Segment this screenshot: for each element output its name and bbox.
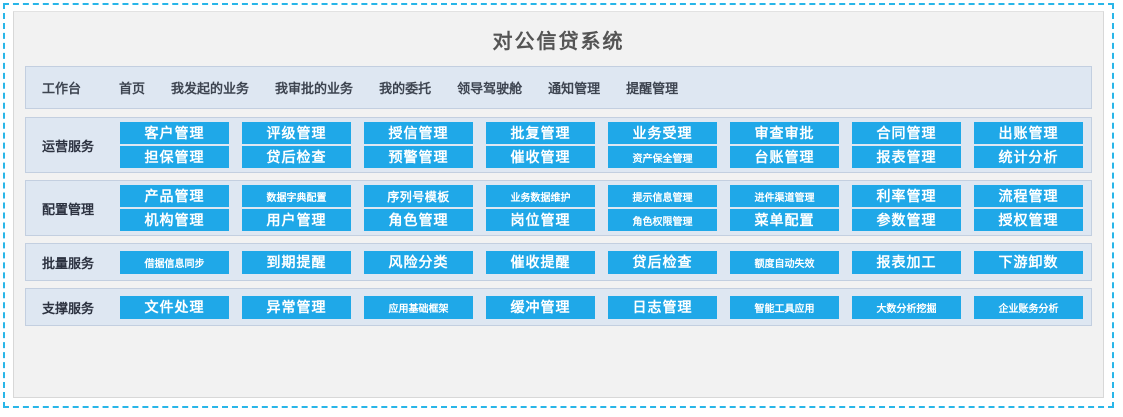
menu-button-0-1-7[interactable]: 统计分析 [974,146,1083,168]
menu-button-1-0-7[interactable]: 流程管理 [974,185,1083,207]
section-panel-1: 配置管理产品管理数据字典配置序列号模板业务数据维护提示信息管理进件渠道管理利率管… [25,180,1092,236]
sections-container: 运营服务客户管理评级管理授信管理批复管理业务受理审查审批合同管理出账管理担保管理… [14,117,1103,326]
page-surface: 对公信贷系统 工作台首页我发起的业务我审批的业务我的委托领导驾驶舱通知管理提醒管… [13,11,1104,398]
menu-button-0-1-5[interactable]: 台账管理 [730,146,839,168]
menu-button-1-1-7[interactable]: 授权管理 [974,209,1083,231]
menu-button-3-0-5[interactable]: 智能工具应用 [730,296,839,319]
section-panel-3: 支撑服务文件处理异常管理应用基础框架缓冲管理日志管理智能工具应用大数分析挖掘企业… [25,288,1092,326]
section-label-3: 支撑服务 [34,298,120,317]
menu-button-0-1-3[interactable]: 催收管理 [486,146,595,168]
section-label-0: 运营服务 [34,136,120,155]
nav-item-5[interactable]: 领导驾驶舱 [457,78,522,97]
menu-button-0-1-6[interactable]: 报表管理 [852,146,961,168]
top-navigation-bar: 工作台首页我发起的业务我审批的业务我的委托领导驾驶舱通知管理提醒管理 [25,66,1092,109]
section-label-2: 批量服务 [34,253,120,272]
menu-button-0-1-4[interactable]: 资产保全管理 [608,146,717,168]
section-label-1: 配置管理 [34,199,120,218]
menu-button-3-0-2[interactable]: 应用基础框架 [364,296,473,319]
menu-button-0-1-2[interactable]: 预警管理 [364,146,473,168]
menu-button-2-0-2[interactable]: 风险分类 [364,251,473,274]
menu-button-2-0-4[interactable]: 贷后检查 [608,251,717,274]
menu-button-2-0-5[interactable]: 额度自动失效 [730,251,839,274]
menu-button-2-0-6[interactable]: 报表加工 [852,251,961,274]
menu-button-3-0-6[interactable]: 大数分析挖掘 [852,296,961,319]
menu-button-3-0-1[interactable]: 异常管理 [242,296,351,319]
menu-button-1-0-5[interactable]: 进件渠道管理 [730,185,839,207]
menu-button-0-1-1[interactable]: 贷后检查 [242,146,351,168]
nav-item-6[interactable]: 通知管理 [548,78,600,97]
menu-button-2-0-7[interactable]: 下游卸数 [974,251,1083,274]
menu-button-2-0-1[interactable]: 到期提醒 [242,251,351,274]
menu-button-0-0-4[interactable]: 业务受理 [608,122,717,144]
section-button-grid-3: 文件处理异常管理应用基础框架缓冲管理日志管理智能工具应用大数分析挖掘企业账务分析 [120,296,1085,319]
section-button-grid-1: 产品管理数据字典配置序列号模板业务数据维护提示信息管理进件渠道管理利率管理流程管… [120,185,1085,231]
menu-button-2-0-3[interactable]: 催收提醒 [486,251,595,274]
page-title: 对公信贷系统 [14,12,1103,66]
nav-item-3[interactable]: 我审批的业务 [275,78,353,97]
menu-button-1-0-3[interactable]: 业务数据维护 [486,185,595,207]
menu-button-3-0-3[interactable]: 缓冲管理 [486,296,595,319]
menu-button-0-0-2[interactable]: 授信管理 [364,122,473,144]
menu-button-2-0-0[interactable]: 借据信息同步 [120,251,229,274]
selection-frame: 对公信贷系统 工作台首页我发起的业务我审批的业务我的委托领导驾驶舱通知管理提醒管… [3,3,1114,408]
menu-button-1-0-6[interactable]: 利率管理 [852,185,961,207]
section-button-grid-2: 借据信息同步到期提醒风险分类催收提醒贷后检查额度自动失效报表加工下游卸数 [120,251,1085,274]
menu-button-3-0-0[interactable]: 文件处理 [120,296,229,319]
menu-button-1-0-2[interactable]: 序列号模板 [364,185,473,207]
menu-button-1-1-3[interactable]: 岗位管理 [486,209,595,231]
section-button-grid-0: 客户管理评级管理授信管理批复管理业务受理审查审批合同管理出账管理担保管理贷后检查… [120,122,1085,168]
nav-item-7[interactable]: 提醒管理 [626,78,678,97]
menu-button-1-0-4[interactable]: 提示信息管理 [608,185,717,207]
menu-button-1-1-0[interactable]: 机构管理 [120,209,229,231]
menu-button-0-0-3[interactable]: 批复管理 [486,122,595,144]
menu-button-0-0-5[interactable]: 审查审批 [730,122,839,144]
menu-button-1-0-1[interactable]: 数据字典配置 [242,185,351,207]
nav-item-2[interactable]: 我发起的业务 [171,78,249,97]
menu-button-0-0-6[interactable]: 合同管理 [852,122,961,144]
section-panel-2: 批量服务借据信息同步到期提醒风险分类催收提醒贷后检查额度自动失效报表加工下游卸数 [25,243,1092,281]
nav-items: 工作台首页我发起的业务我审批的业务我的委托领导驾驶舱通知管理提醒管理 [42,78,678,97]
nav-item-4[interactable]: 我的委托 [379,78,431,97]
menu-button-0-0-1[interactable]: 评级管理 [242,122,351,144]
menu-button-3-0-4[interactable]: 日志管理 [608,296,717,319]
menu-button-1-1-1[interactable]: 用户管理 [242,209,351,231]
menu-button-1-1-5[interactable]: 菜单配置 [730,209,839,231]
section-panel-0: 运营服务客户管理评级管理授信管理批复管理业务受理审查审批合同管理出账管理担保管理… [25,117,1092,173]
menu-button-0-0-0[interactable]: 客户管理 [120,122,229,144]
nav-item-1[interactable]: 首页 [119,78,145,97]
menu-button-3-0-7[interactable]: 企业账务分析 [974,296,1083,319]
menu-button-1-1-2[interactable]: 角色管理 [364,209,473,231]
menu-button-1-0-0[interactable]: 产品管理 [120,185,229,207]
menu-button-1-1-4[interactable]: 角色权限管理 [608,209,717,231]
menu-button-1-1-6[interactable]: 参数管理 [852,209,961,231]
menu-button-0-1-0[interactable]: 担保管理 [120,146,229,168]
menu-button-0-0-7[interactable]: 出账管理 [974,122,1083,144]
nav-item-0[interactable]: 工作台 [42,78,81,97]
